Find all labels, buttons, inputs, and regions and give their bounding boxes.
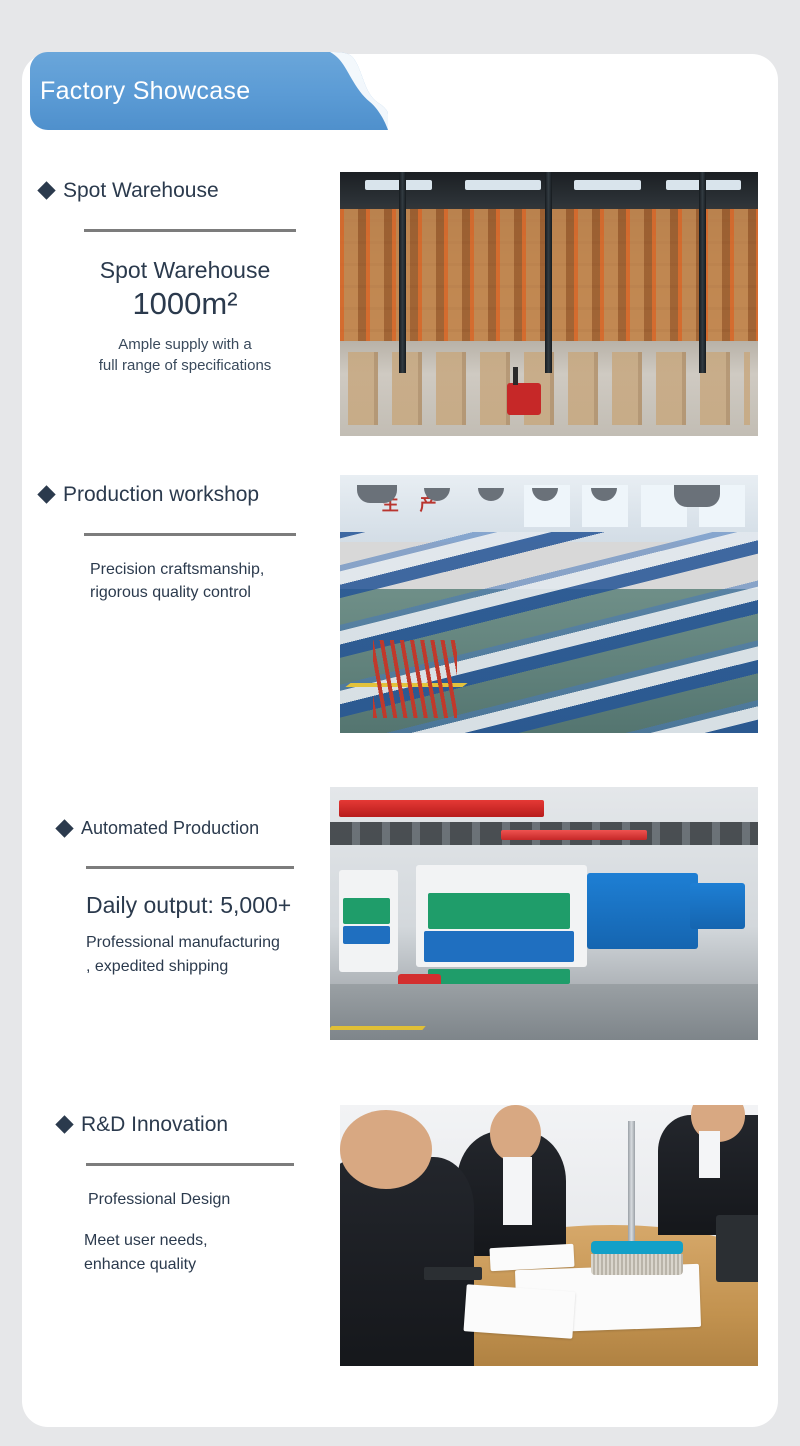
section-2-heading: Production workshop xyxy=(63,482,259,507)
section-4-sub-line-3: enhance quality xyxy=(84,1253,338,1276)
section-2-heading-row: Production workshop xyxy=(40,482,330,507)
section-1-huge-line: 1000m² xyxy=(40,285,330,322)
section-2-divider xyxy=(84,533,296,536)
section-1-text-block: Spot Warehouse Spot Warehouse 1000m² Amp… xyxy=(40,178,330,376)
section-2-sub-line-1: Precision craftsmanship, xyxy=(90,558,330,581)
section-3-sub-line-2: , expedited shipping xyxy=(86,955,338,978)
section-1-heading: Spot Warehouse xyxy=(63,178,219,203)
diamond-bullet-icon xyxy=(37,181,55,199)
factory-showcase-page: Factory Showcase Spot Warehouse Spot War… xyxy=(0,0,800,1446)
section-4-sub-line-1: Professional Design xyxy=(88,1188,338,1211)
section-1-sub-line-1: Ample supply with a xyxy=(40,334,330,355)
section-4-divider xyxy=(86,1163,294,1166)
section-3-heading: Automated Production xyxy=(81,818,259,840)
diamond-bullet-icon xyxy=(55,1115,73,1133)
section-4-sub-line-2: Meet user needs, xyxy=(84,1229,338,1252)
section-4-heading: R&D Innovation xyxy=(81,1112,228,1137)
section-3-text-block: Automated Production Daily output: 5,000… xyxy=(58,818,338,978)
section-1-heading-row: Spot Warehouse xyxy=(40,178,330,203)
automated-production-image xyxy=(330,787,758,1040)
section-4-text-block: R&D Innovation Professional Design Meet … xyxy=(58,1112,338,1276)
section-4-heading-row: R&D Innovation xyxy=(58,1112,338,1137)
section-3-big-line: Daily output: 5,000+ xyxy=(86,891,338,920)
diamond-bullet-icon xyxy=(55,820,73,838)
section-3-sub-line-1: Professional manufacturing xyxy=(86,931,338,954)
section-3-heading-row: Automated Production xyxy=(58,818,338,840)
section-3-divider xyxy=(86,866,294,869)
section-2-text-block: Production workshop Precision craftsmans… xyxy=(40,482,330,605)
warehouse-image xyxy=(340,172,758,436)
section-1-divider xyxy=(84,229,296,232)
section-1-big-line: Spot Warehouse xyxy=(40,256,330,285)
rnd-innovation-image xyxy=(340,1105,758,1366)
production-workshop-image: 生 产 xyxy=(340,475,758,733)
diamond-bullet-icon xyxy=(37,485,55,503)
section-1-sub-line-2: full range of specifications xyxy=(40,355,330,376)
section-2-sub-line-2: rigorous quality control xyxy=(90,581,330,604)
header-banner xyxy=(30,52,390,130)
